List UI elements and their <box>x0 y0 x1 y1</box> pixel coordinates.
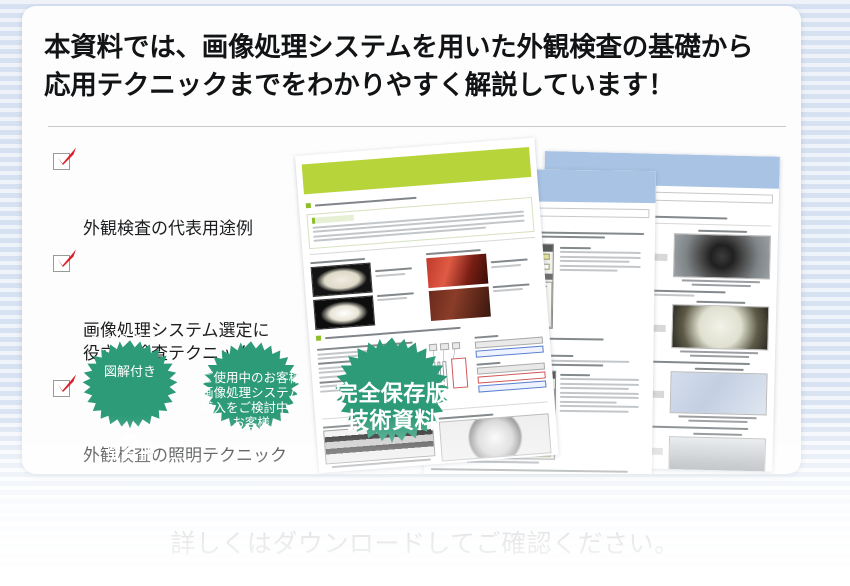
download-caption: 詳しくはダウンロードしてご確認ください。 <box>0 524 850 560</box>
content-card: 本資料では、画像処理システムを用いた外観検査の基礎から 応用テクニックまでをわか… <box>22 6 801 474</box>
page-title: 本資料では、画像処理システムを用いた外観検査の基礎から 応用テクニックまでをわか… <box>44 29 784 104</box>
badge-text: 完全保存版 技術資料 <box>330 381 455 435</box>
badge-volume-number: 2 <box>121 428 140 466</box>
checkbox-icon <box>53 380 70 397</box>
badge-archive: 完全保存版 技術資料 <box>320 336 464 474</box>
divider <box>48 126 786 127</box>
badge-audience: ご使用中のお客様 画像処理システム 導入をご検討中の お客様 <box>190 340 312 462</box>
badge-line-2: 図解付き <box>91 364 169 380</box>
badge-text-group: わかりやすい 図解付き 全2冊 <box>85 316 175 474</box>
checkbox-icon <box>53 255 70 272</box>
badge-volume-suffix: 冊 <box>139 445 154 462</box>
badge-volume-count: 全2冊 <box>91 396 169 466</box>
checkbox-icon <box>53 153 70 170</box>
badge-volume-prefix: 全 <box>106 445 121 462</box>
list-item: 外観検査の代表用途例 <box>52 150 314 240</box>
badge-illustrated: わかりやすい 図解付き 全2冊 <box>70 339 190 459</box>
promo-banner: 本資料では、画像処理システムを用いた外観検査の基礎から 応用テクニックまでをわか… <box>0 0 850 586</box>
list-item-label: 外観検査の代表用途例 <box>83 219 253 238</box>
badge-line-1: わかりやすい <box>91 332 169 348</box>
badge-text: ご使用中のお客様 画像処理システム 導入をご検討中の お客様 <box>195 371 307 432</box>
